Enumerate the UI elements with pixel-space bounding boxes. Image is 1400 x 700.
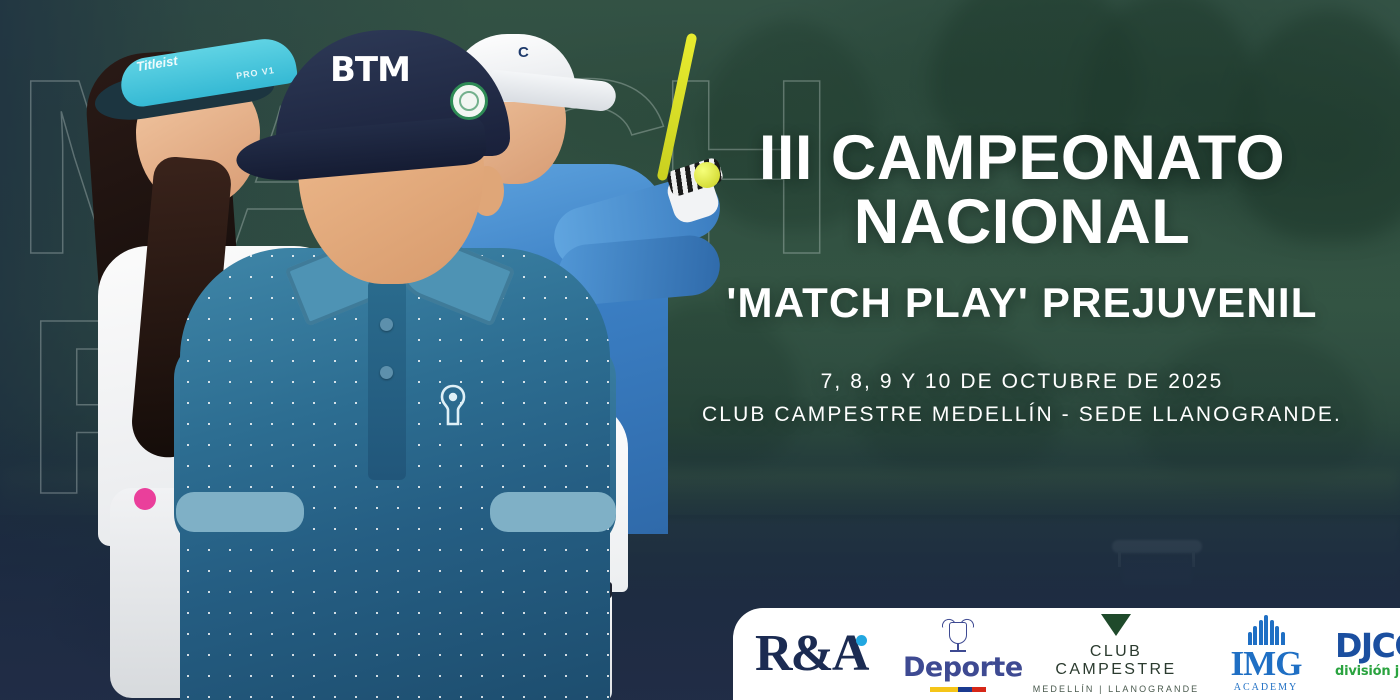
img-academy-sub: ACADEMY	[1213, 682, 1319, 693]
randa-dot-icon	[856, 635, 867, 646]
cap-logo-text: BTM	[330, 50, 416, 90]
title-line-2: NACIONAL	[652, 190, 1392, 254]
club-campestre-sede: MEDELLÍN | LLANOGRANDE	[1027, 684, 1205, 694]
sponsor-club-campestre[interactable]: CLUB CAMPESTRE MEDELLÍN | LLANOGRANDE	[1027, 614, 1205, 694]
djcg-name: DJCG	[1335, 629, 1400, 662]
player-photo-male-cap: BTM	[180, 8, 610, 700]
event-venue: CLUB CAMPESTRE MEDELLÍN - SEDE LLANOGRAN…	[652, 400, 1392, 430]
djcg-logo-icon: DJCG división junior	[1335, 629, 1400, 679]
deporte-logo-icon: Deporte	[903, 616, 1013, 692]
sponsor-randa[interactable]: R&A	[755, 623, 873, 685]
club-campestre-name: CLUB CAMPESTRE	[1027, 643, 1205, 679]
djcg-sub: división junior	[1335, 664, 1400, 679]
colombia-flag-icon	[930, 687, 986, 692]
randa-logo-text: R&A	[755, 623, 873, 685]
title-line-1: III CAMPEONATO	[652, 126, 1392, 190]
page-subtitle: 'MATCH PLAY' PREJUVENIL	[652, 281, 1392, 325]
club-campestre-logo-icon: CLUB CAMPESTRE MEDELLÍN | LLANOGRANDE	[1027, 614, 1205, 694]
tournament-poster: M A T C H P L A Y Titleist PRO V1	[0, 0, 1400, 700]
randa-logo-icon: R&A	[755, 623, 873, 685]
img-academy-name: IMG	[1213, 645, 1319, 682]
sponsor-logo-bar: R&A Deporte	[733, 608, 1400, 700]
sponsor-djcg[interactable]: DJCG división junior	[1335, 629, 1400, 679]
colombia-coat-of-arms-icon	[943, 616, 973, 652]
triangle-icon	[1101, 614, 1131, 636]
event-dates: 7, 8, 9 Y 10 DE OCTUBRE DE 2025	[652, 367, 1392, 397]
headline-block: III CAMPEONATO NACIONAL 'MATCH PLAY' PRE…	[652, 126, 1392, 430]
deporte-logo-text: Deporte	[903, 654, 1013, 682]
flame-icon	[1213, 615, 1319, 645]
img-academy-logo-icon: IMG ACADEMY	[1213, 615, 1319, 693]
sponsor-img-academy[interactable]: IMG ACADEMY	[1213, 615, 1319, 693]
sponsor-deporte[interactable]: Deporte	[903, 616, 1013, 692]
page-title: III CAMPEONATO NACIONAL	[652, 126, 1392, 255]
event-details: 7, 8, 9 Y 10 DE OCTUBRE DE 2025 CLUB CAM…	[652, 367, 1392, 431]
polo-crest-icon	[436, 384, 470, 428]
